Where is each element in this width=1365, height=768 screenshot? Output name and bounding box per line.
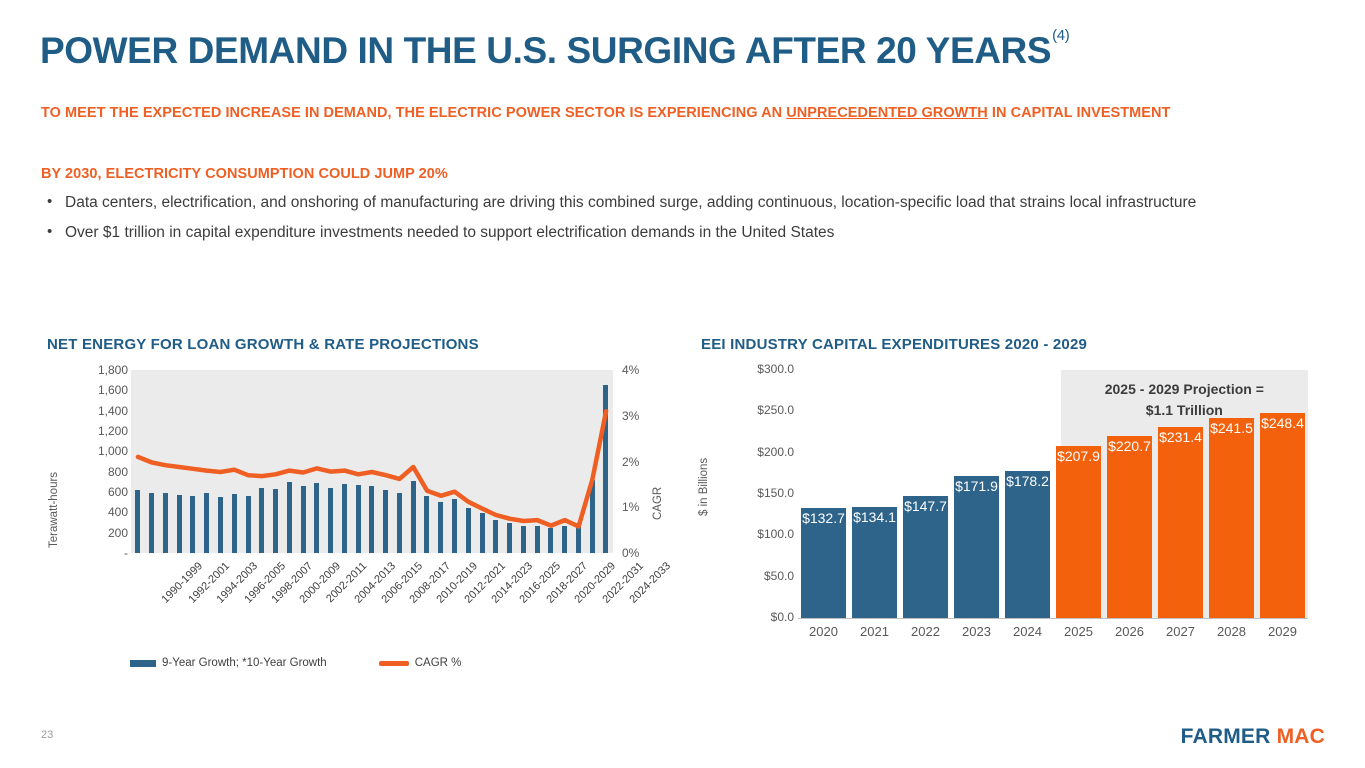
y-tick-label: - — [72, 547, 128, 559]
y-tick-label: $0.0 — [720, 611, 794, 623]
chart-bar: $207.9 — [1056, 446, 1102, 618]
line-swatch-icon — [379, 661, 409, 666]
y2-tick-label: 4% — [622, 364, 656, 376]
bar-slot: $178.2 — [1002, 370, 1053, 618]
bar-value-label: $171.9 — [954, 478, 1000, 494]
bar-slot: $231.4 — [1155, 370, 1206, 618]
chart-bar: $241.5 — [1209, 418, 1255, 618]
left-chart-y-axis-title: Terawatt-hours — [48, 408, 60, 548]
y-tick-label: 400 — [72, 506, 128, 518]
chart-bar: $231.4 — [1158, 427, 1204, 618]
chart-bar: $171.9 — [954, 476, 1000, 618]
legend-label-bar: 9-Year Growth; *10-Year Growth — [162, 657, 327, 669]
page-title: POWER DEMAND IN THE U.S. SURGING AFTER 2… — [40, 30, 1068, 72]
bar-slot: $241.5 — [1206, 370, 1257, 618]
left-chart-legend: 9-Year Growth; *10-Year Growth CAGR % — [130, 654, 461, 672]
x-tick-label: 2028 — [1206, 624, 1257, 639]
y-tick-label: 1,200 — [72, 425, 128, 437]
x-tick-label: 2026 — [1104, 624, 1155, 639]
subheading-underlined: UNPRECEDENTED GROWTH — [786, 105, 988, 121]
bar-slot: $220.7 — [1104, 370, 1155, 618]
bar-value-label: $241.5 — [1209, 420, 1255, 436]
slide: POWER DEMAND IN THE U.S. SURGING AFTER 2… — [0, 0, 1365, 768]
right-chart-title: EEI INDUSTRY CAPITAL EXPENDITURES 2020 -… — [701, 336, 1087, 353]
y-tick-label: 1,000 — [72, 445, 128, 457]
bullet-list: Data centers, electrification, and onsho… — [41, 191, 1303, 251]
y-tick-label: 200 — [72, 527, 128, 539]
left-chart-title: NET ENERGY FOR LOAN GROWTH & RATE PROJEC… — [47, 336, 479, 353]
x-tick-label: 2024 — [1002, 624, 1053, 639]
y-tick-label: $100.0 — [720, 528, 794, 540]
list-item: Data centers, electrification, and onsho… — [41, 191, 1303, 214]
bar-value-label: $220.7 — [1107, 438, 1153, 454]
y-tick-label: $150.0 — [720, 487, 794, 499]
bar-value-label: $248.4 — [1260, 415, 1306, 431]
right-chart-x-axis-labels: 2020202120222023202420252026202720282029 — [798, 624, 1308, 639]
right-chart-plot-area: 2025 - 2029 Projection = $1.1 Trillion $… — [798, 370, 1308, 618]
left-chart-plot-area — [131, 370, 613, 553]
chart-bar: $134.1 — [852, 507, 898, 618]
farmer-mac-logo: FARMER MAC — [1181, 725, 1325, 749]
legend-label-line: CAGR % — [415, 657, 462, 669]
bar-value-label: $132.7 — [801, 510, 847, 526]
x-tick-label: 2021 — [849, 624, 900, 639]
bar-value-label: $134.1 — [852, 509, 898, 525]
y-tick-label: $300.0 — [720, 363, 794, 375]
page-title-text: POWER DEMAND IN THE U.S. SURGING AFTER 2… — [40, 30, 1051, 71]
subheading-secondary: BY 2030, ELECTRICITY CONSUMPTION COULD J… — [41, 166, 448, 182]
bar-slot: $248.4 — [1257, 370, 1308, 618]
bar-slot: $132.7 — [798, 370, 849, 618]
y-tick-label: $250.0 — [720, 404, 794, 416]
y2-tick-label: 3% — [622, 410, 656, 422]
chart-bar: $147.7 — [903, 496, 949, 618]
y2-tick-label: 1% — [622, 501, 656, 513]
legend-item-line: CAGR % — [379, 657, 462, 669]
y-tick-label: 800 — [72, 466, 128, 478]
logo-accent-text: MAC — [1277, 725, 1325, 748]
chart-bar: $220.7 — [1107, 436, 1153, 618]
chart-bar: $248.4 — [1260, 413, 1306, 618]
subheading-part2: IN CAPITAL INVESTMENT — [988, 105, 1171, 121]
y2-tick-label: 0% — [622, 547, 656, 559]
bar-slot: $171.9 — [951, 370, 1002, 618]
y-tick-label: 600 — [72, 486, 128, 498]
y-tick-label: 1,400 — [72, 405, 128, 417]
bar-slot: $207.9 — [1053, 370, 1104, 618]
bar-value-label: $207.9 — [1056, 448, 1102, 464]
left-chart-y2-axis: 4%3%2%1%0% — [622, 362, 660, 562]
x-tick-label: 2020 — [798, 624, 849, 639]
x-tick-label: 2022 — [900, 624, 951, 639]
legend-item-bar: 9-Year Growth; *10-Year Growth — [130, 657, 327, 669]
right-chart-y-axis-title: $ in Billions — [698, 420, 710, 516]
page-title-footnote: (4) — [1052, 27, 1069, 44]
left-chart-y-axis: 1,8001,6001,4001,2001,000800600400200- — [68, 362, 128, 562]
subheading-primary: TO MEET THE EXPECTED INCREASE IN DEMAND,… — [41, 103, 1281, 124]
y2-tick-label: 2% — [622, 456, 656, 468]
bar-value-label: $147.7 — [903, 498, 949, 514]
bar-swatch-icon — [130, 660, 156, 667]
y-tick-label: $200.0 — [720, 446, 794, 458]
bar-slot: $134.1 — [849, 370, 900, 618]
net-energy-chart: Terawatt-hours CAGR 1,8001,6001,4001,200… — [40, 362, 660, 672]
x-tick-label: 2029 — [1257, 624, 1308, 639]
bar-value-label: $231.4 — [1158, 429, 1204, 445]
chart-bar: $178.2 — [1005, 471, 1051, 618]
list-item: Over $1 trillion in capital expenditure … — [41, 221, 1303, 244]
logo-primary-text: FARMER — [1181, 725, 1271, 748]
right-chart-bars: $132.7$134.1$147.7$171.9$178.2$207.9$220… — [798, 370, 1308, 618]
left-chart-cagr-line — [131, 370, 613, 553]
subheading-part1: TO MEET THE EXPECTED INCREASE IN DEMAND,… — [41, 105, 786, 121]
y-tick-label: $50.0 — [720, 570, 794, 582]
y-tick-label: 1,800 — [72, 364, 128, 376]
chart-bar: $132.7 — [801, 508, 847, 618]
bar-slot: $147.7 — [900, 370, 951, 618]
x-tick-label: 2027 — [1155, 624, 1206, 639]
right-chart-baseline — [798, 618, 1308, 619]
page-number: 23 — [41, 729, 53, 741]
y-tick-label: 1,600 — [72, 384, 128, 396]
x-tick-label: 2023 — [951, 624, 1002, 639]
left-chart-x-axis-labels: 1990-19991992-20011994-20031996-20051998… — [131, 558, 613, 648]
bar-value-label: $178.2 — [1005, 473, 1051, 489]
right-chart-y-axis: $300.0$250.0$200.0$150.0$100.0$50.0$0.0 — [716, 362, 794, 624]
eei-capex-chart: $ in Billions $300.0$250.0$200.0$150.0$1… — [694, 362, 1324, 652]
x-tick-label: 2025 — [1053, 624, 1104, 639]
